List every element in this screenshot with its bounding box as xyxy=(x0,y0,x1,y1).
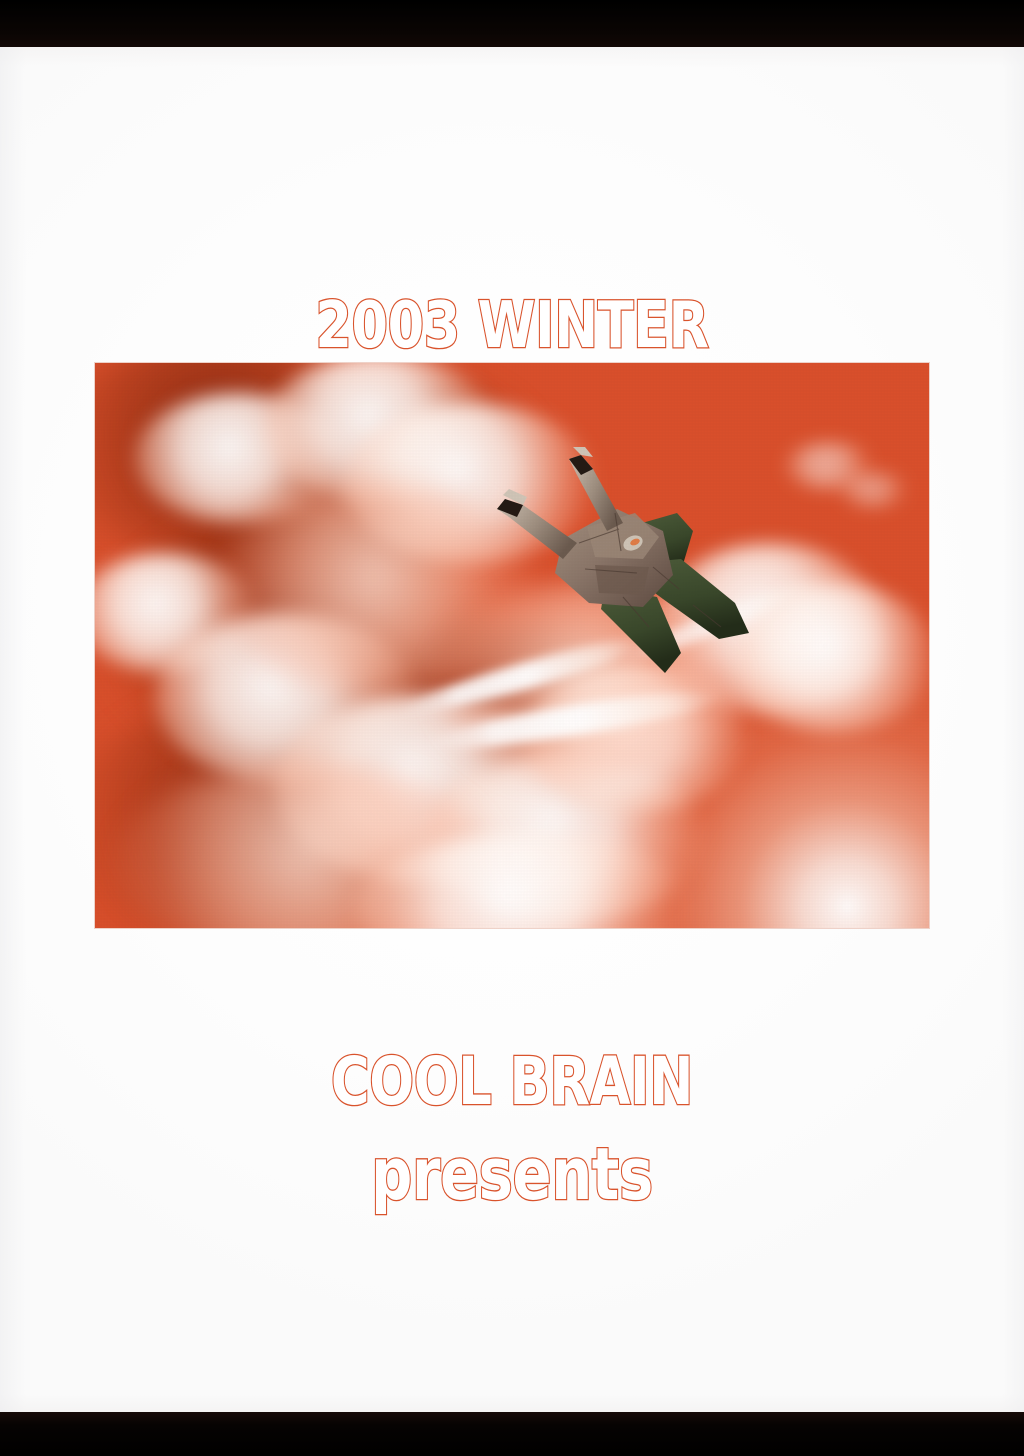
craft-barrel-tip-right xyxy=(573,447,593,457)
mecha-jet-fighter xyxy=(467,447,767,687)
publisher-tagline: presents xyxy=(102,1135,921,1213)
letterbox-bar-bottom xyxy=(0,1412,1024,1456)
publisher-name: COOL BRAIN xyxy=(102,1047,921,1117)
sun-glow xyxy=(562,657,929,928)
cover-artwork xyxy=(95,363,929,928)
craft-ventral-panel xyxy=(595,565,649,595)
page-title: 2003 WINTER xyxy=(92,292,932,360)
paper-sheet: 2003 WINTER xyxy=(0,47,1024,1412)
scanned-page: 2003 WINTER xyxy=(0,0,1024,1456)
letterbox-bar-top xyxy=(0,0,1024,47)
